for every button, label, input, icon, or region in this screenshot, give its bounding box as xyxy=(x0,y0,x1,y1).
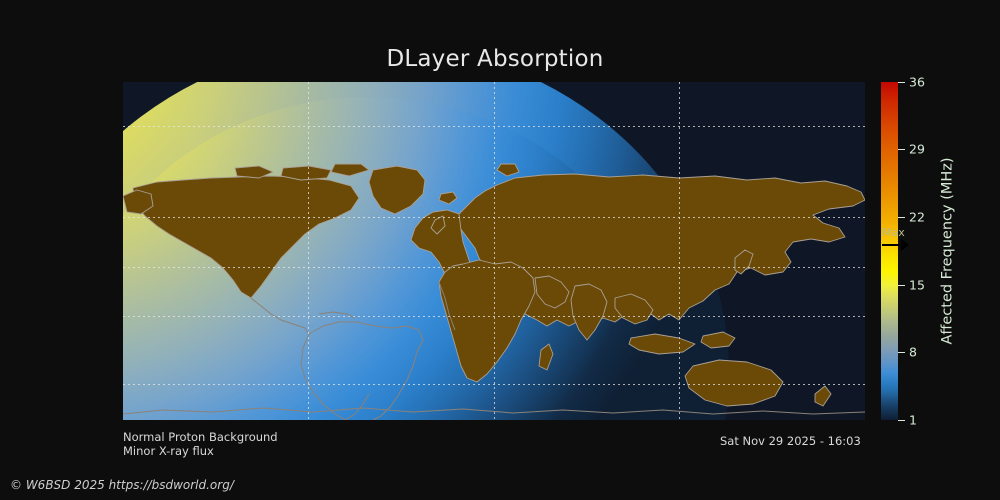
colorbar-tick-mark-15 xyxy=(898,285,905,286)
application-root: DLayer Absorption xyxy=(0,0,1000,500)
footer-credit: © W6BSD 2025 https://bsdworld.org/ xyxy=(10,478,234,492)
colorbar-tick-label-1: 29 xyxy=(909,142,925,157)
colorbar-tick-mark-8 xyxy=(898,352,905,353)
colorbar-tick-mark-1 xyxy=(898,420,905,421)
colorbar-ticks: 36 29 22 15 8 1 xyxy=(881,82,898,420)
colorbar-tick-mark-22 xyxy=(898,217,905,218)
map-canvas xyxy=(123,82,865,420)
page-title: DLayer Absorption xyxy=(0,46,990,72)
colorbar-tick-mark-29 xyxy=(898,149,905,150)
max-arrow-head-icon xyxy=(901,239,909,251)
colorbar-tick-label-5: 1 xyxy=(909,413,917,428)
colorbar-axis-label: Affected Frequency (MHz) xyxy=(938,82,958,420)
colorbar-tick-label-0: 36 xyxy=(909,75,925,90)
colorbar-tick-label-2: 22 xyxy=(909,210,925,225)
colorbar-axis-label-text: Affected Frequency (MHz) xyxy=(940,157,956,344)
xray-status-caption: Minor X-ray flux xyxy=(123,444,214,458)
proton-status-caption: Normal Proton Background xyxy=(123,430,278,444)
colorbar-tick-label-4: 8 xyxy=(909,345,917,360)
colorbar-tick-mark-36 xyxy=(898,82,905,83)
colorbar-tick-label-3: 15 xyxy=(909,278,925,293)
timestamp-caption: Sat Nov 29 2025 - 16:03 xyxy=(720,434,861,448)
world-absorption-map[interactable] xyxy=(123,82,865,420)
